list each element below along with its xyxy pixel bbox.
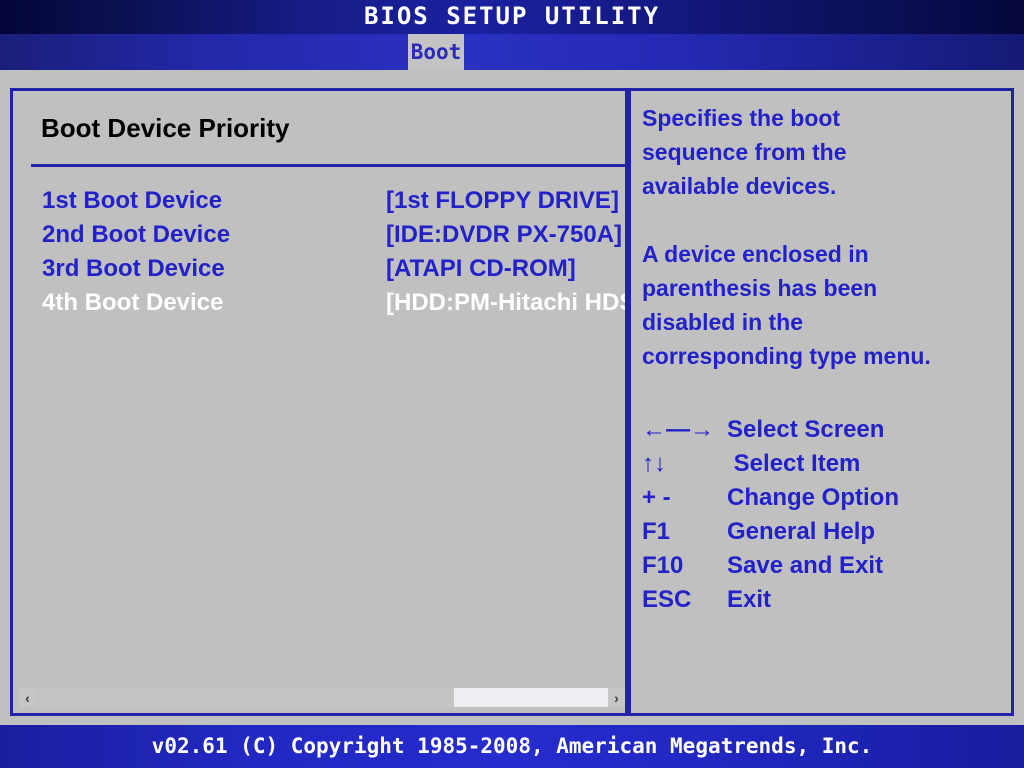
table-row[interactable]: 1st Boot Device [1st FLOPPY DRIVE]: [13, 187, 625, 221]
legend-label: Select Item: [727, 450, 860, 478]
legend-item: ↑↓ Select Item: [642, 450, 1002, 484]
key-f10: F10: [642, 552, 683, 580]
device-value[interactable]: [IDE:DVDR PX-750A]: [386, 221, 622, 249]
plus-minus-icon: + -: [642, 484, 671, 512]
tab-bar: Boot: [0, 34, 1024, 70]
bios-setup-screen: BIOS SETUP UTILITY Boot Boot Device Prio…: [0, 0, 1024, 768]
device-label: 3rd Boot Device: [42, 255, 225, 283]
scroll-left-icon[interactable]: ‹: [19, 688, 36, 707]
device-label: 4th Boot Device: [42, 289, 223, 317]
legend-label: Change Option: [727, 484, 899, 512]
tab-boot[interactable]: Boot: [408, 34, 464, 70]
arrow-up-down-icon: ↑↓: [642, 450, 666, 478]
legend-item: ESC Exit: [642, 586, 1002, 620]
device-value[interactable]: [ATAPI CD-ROM]: [386, 255, 576, 283]
footer-bar: v02.61 (C) Copyright 1985-2008, American…: [0, 725, 1024, 768]
scrollbar-thumb[interactable]: [36, 688, 454, 707]
boot-device-priority-panel: Boot Device Priority 1st Boot Device [1s…: [10, 88, 628, 716]
legend-item: + - Change Option: [642, 484, 1002, 518]
device-value[interactable]: [HDD:PM-Hitachi HDS]: [386, 289, 628, 317]
table-row[interactable]: 2nd Boot Device [IDE:DVDR PX-750A]: [13, 221, 625, 255]
content-area: Boot Device Priority 1st Boot Device [1s…: [0, 70, 1024, 725]
table-row[interactable]: 4th Boot Device [HDD:PM-Hitachi HDS]: [13, 289, 625, 323]
arrow-left-right-icon: ←—→: [642, 416, 714, 444]
scrollbar-track[interactable]: [36, 688, 608, 707]
device-label: 1st Boot Device: [42, 187, 222, 215]
key-f1: F1: [642, 518, 670, 546]
scroll-right-icon[interactable]: ›: [608, 688, 625, 707]
horizontal-scrollbar[interactable]: ‹ ›: [19, 688, 625, 707]
legend-label: Save and Exit: [727, 552, 883, 580]
legend-item: ←—→ Select Screen: [642, 416, 1002, 450]
help-description: Specifies the boot sequence from the ava…: [642, 101, 942, 373]
title-divider: [31, 164, 627, 167]
legend-label: General Help: [727, 518, 875, 546]
table-row[interactable]: 3rd Boot Device [ATAPI CD-ROM]: [13, 255, 625, 289]
page-title: BIOS SETUP UTILITY: [0, 1, 1024, 31]
title-bar: BIOS SETUP UTILITY: [0, 0, 1024, 34]
legend-item: F1 General Help: [642, 518, 1002, 552]
key-esc: ESC: [642, 586, 691, 614]
legend-item: F10 Save and Exit: [642, 552, 1002, 586]
section-title: Boot Device Priority: [41, 113, 290, 144]
help-panel: Specifies the boot sequence from the ava…: [628, 88, 1014, 716]
tab-boot-label: Boot: [411, 40, 462, 64]
device-value[interactable]: [1st FLOPPY DRIVE]: [386, 187, 619, 215]
key-legend: ←—→ Select Screen ↑↓ Select Item + - Cha…: [642, 416, 1002, 620]
boot-device-list: 1st Boot Device [1st FLOPPY DRIVE] 2nd B…: [13, 187, 625, 323]
copyright-text: v02.61 (C) Copyright 1985-2008, American…: [0, 731, 1024, 761]
legend-label: Select Screen: [727, 416, 884, 444]
legend-label: Exit: [727, 586, 771, 614]
device-label: 2nd Boot Device: [42, 221, 230, 249]
